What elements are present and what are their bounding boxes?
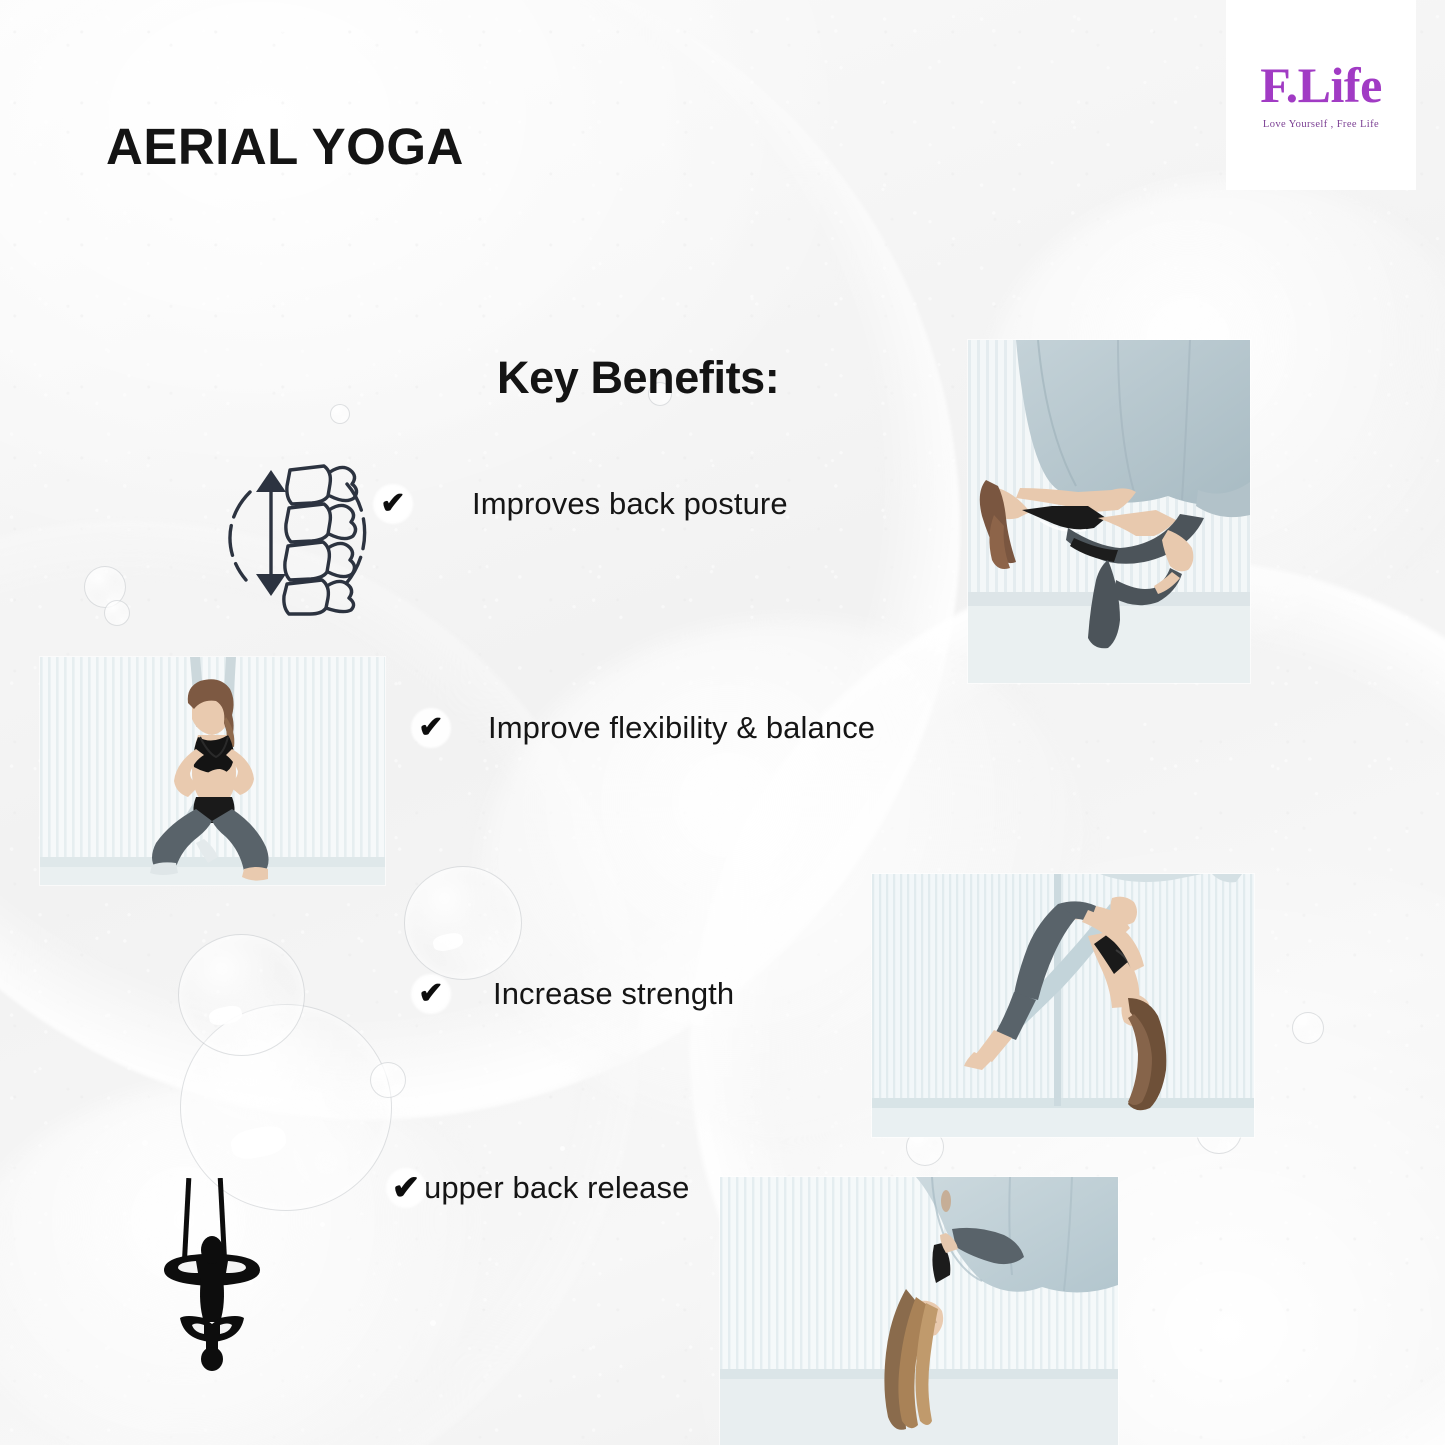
check-icon: ✔ (409, 706, 453, 750)
photo-upside-down-cocoon (720, 1177, 1118, 1445)
brand-logo[interactable]: F.Life Love Yourself , Free Life (1226, 0, 1416, 190)
aerial-hammock-icon (152, 1178, 280, 1373)
logo-tagline: Love Yourself , Free Life (1263, 119, 1379, 130)
logo-wordmark: F.Life (1260, 60, 1382, 110)
check-icon: ✔ (388, 1170, 424, 1206)
infographic-page: F.Life Love Yourself , Free Life AERIAL … (0, 0, 1445, 1445)
spine-icon (216, 446, 384, 616)
benefit-item-improve-flexibility-balance: ✔ Improve flexibility & balance (409, 706, 875, 750)
check-icon: ✔ (371, 482, 415, 526)
benefit-item-increase-strength: ✔ Increase strength (409, 972, 734, 1016)
check-glyph: ✔ (418, 979, 443, 1009)
check-glyph: ✔ (418, 713, 443, 743)
benefit-label: upper back release (424, 1170, 689, 1206)
photo-seated-prayer-pose (40, 657, 385, 885)
benefit-label: Improves back posture (472, 486, 788, 522)
check-icon: ✔ (409, 972, 453, 1016)
section-heading-key-benefits: Key Benefits: (497, 352, 779, 404)
benefit-item-improves-back-posture: ✔ Improves back posture (371, 482, 788, 526)
photo-aerial-backbend (968, 340, 1250, 683)
check-glyph: ✔ (392, 1171, 421, 1205)
check-glyph: ✔ (380, 489, 405, 519)
benefit-label: Increase strength (493, 976, 734, 1012)
benefit-label: Improve flexibility & balance (488, 710, 875, 746)
photo-inverted-extended-pose (872, 874, 1254, 1137)
benefit-item-upper-back-release: ✔ upper back release (388, 1170, 689, 1206)
page-title: AERIAL YOGA (106, 117, 464, 176)
